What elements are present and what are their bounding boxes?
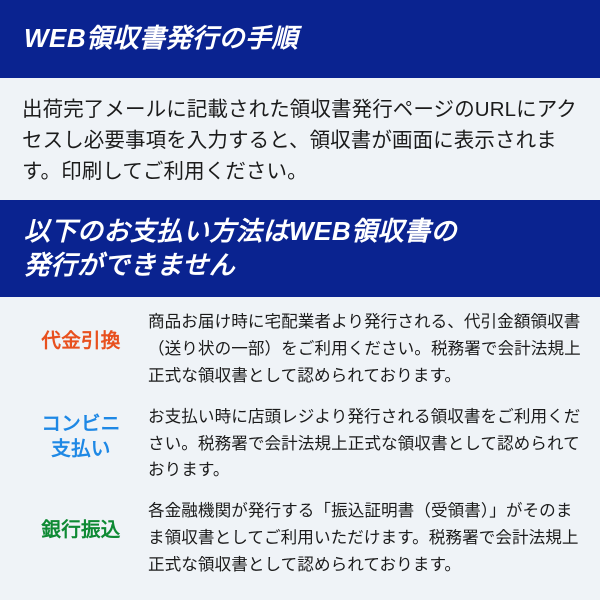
unsupported-methods-title: 以下のお支払い方法はWEB領収書の 発行ができません [0,215,481,283]
intro-section: 出荷完了メールに記載された領収書発行ページのURLにアクセスし必要事項を入力する… [0,78,600,200]
payment-method-description-cash-on-delivery: 商品お届け時に宅配業者より発行される、代引金額領収書（送り状の一部）をご利用くだ… [140,309,582,390]
intro-paragraph: 出荷完了メールに記載された領収書発行ページのURLにアクセスし必要事項を入力する… [22,94,578,187]
payment-method-row-convenience-store: コンビニ 支払い お支払い時に店頭レジより発行される領収書をご利用ください。税務… [0,404,600,485]
payment-method-label-cash-on-delivery: 代金引換 [22,309,140,354]
receipt-info-graphic: WEB領収書発行の手順 出荷完了メールに記載された領収書発行ページのURLにアク… [0,0,600,600]
primary-heading-band: WEB領収書発行の手順 [0,0,600,78]
page-title: WEB領収書発行の手順 [0,22,322,56]
payment-method-description-bank-transfer: 各金融機関が発行する「振込証明書（受領書）」がそのまま領収書としてご利用いただけ… [140,498,582,579]
secondary-heading-band: 以下のお支払い方法はWEB領収書の 発行ができません [0,200,600,297]
payment-method-row-bank-transfer: 銀行振込 各金融機関が発行する「振込証明書（受領書）」がそのまま領収書としてご利… [0,498,600,579]
payment-method-list: 代金引換 商品お届け時に宅配業者より発行される、代引金額領収書（送り状の一部）を… [0,297,600,579]
payment-method-row-cash-on-delivery: 代金引換 商品お届け時に宅配業者より発行される、代引金額領収書（送り状の一部）を… [0,309,600,390]
payment-method-description-convenience-store: お支払い時に店頭レジより発行される領収書をご利用ください。税務署で会計法規上正式… [140,404,582,485]
payment-method-label-convenience-store: コンビニ 支払い [22,404,140,463]
payment-method-label-bank-transfer: 銀行振込 [22,498,140,543]
